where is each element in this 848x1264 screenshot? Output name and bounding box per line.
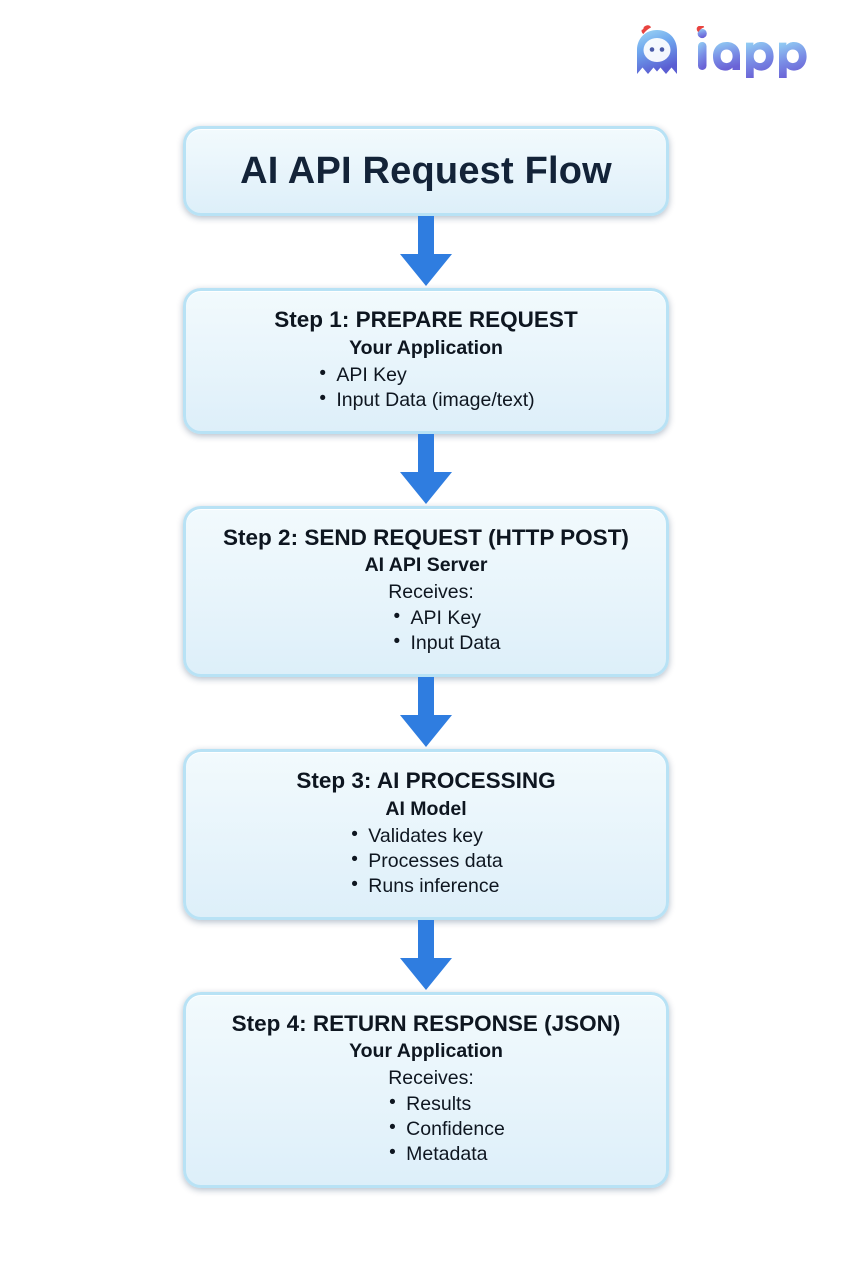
list-item: Input Data (image/text) — [317, 388, 534, 413]
arrow-title-to-step1 — [394, 216, 458, 288]
arrow-step2-to-step3 — [394, 677, 458, 749]
step-receives-label: Receives: — [210, 580, 652, 606]
step-receives-wrap: Receives: — [200, 1066, 652, 1092]
step-heading: Step 2: SEND REQUEST (HTTP POST) — [200, 525, 652, 552]
flow-column: AI API Request Flow Step 1: PREPARE REQU… — [183, 126, 669, 1188]
brand-logo — [629, 22, 820, 82]
list-item: API Key — [317, 363, 534, 388]
list-item: Confidence — [387, 1117, 505, 1142]
step-actor: Your Application — [200, 334, 652, 362]
step-card-1: Step 1: PREPARE REQUEST Your Application… — [183, 288, 669, 434]
step-receives-wrap: Receives: — [200, 580, 652, 606]
list-item: Results — [387, 1092, 505, 1117]
flow-title-card: AI API Request Flow — [183, 126, 669, 216]
step-bullets-wrap: API Key Input Data — [200, 606, 652, 656]
list-item: Processes data — [349, 849, 502, 874]
step-bullet-list: Results Confidence Metadata — [387, 1092, 505, 1167]
arrow-step1-to-step2 — [394, 434, 458, 506]
step-bullets-wrap: API Key Input Data (image/text) — [200, 363, 652, 413]
list-item: Validates key — [349, 824, 502, 849]
iapp-mascot-logo-icon — [629, 24, 685, 80]
step-bullet-list: API Key Input Data (image/text) — [317, 363, 534, 413]
step-heading: Step 4: RETURN RESPONSE (JSON) — [200, 1011, 652, 1038]
step-actor: AI Model — [200, 795, 652, 823]
step-actor: Your Application — [200, 1037, 652, 1065]
step-actor: AI API Server — [200, 551, 652, 579]
list-item: API Key — [392, 606, 501, 631]
step-card-4: Step 4: RETURN RESPONSE (JSON) Your Appl… — [183, 992, 669, 1188]
step-bullets-wrap: Validates key Processes data Runs infere… — [200, 824, 652, 899]
iapp-wordmark-icon — [695, 26, 820, 78]
arrow-step3-to-step4 — [394, 920, 458, 992]
step-bullets-wrap: Results Confidence Metadata — [200, 1092, 652, 1167]
list-item: Metadata — [387, 1142, 505, 1167]
step-card-2: Step 2: SEND REQUEST (HTTP POST) AI API … — [183, 506, 669, 677]
flowchart-page: AI API Request Flow Step 1: PREPARE REQU… — [0, 0, 848, 1264]
step-card-3: Step 3: AI PROCESSING AI Model Validates… — [183, 749, 669, 920]
step-heading: Step 1: PREPARE REQUEST — [200, 307, 652, 334]
step-bullet-list: Validates key Processes data Runs infere… — [349, 824, 502, 899]
list-item: Input Data — [392, 631, 501, 656]
step-receives-label: Receives: — [210, 1066, 652, 1092]
step-bullet-list: API Key Input Data — [392, 606, 501, 656]
page-title: AI API Request Flow — [240, 152, 612, 190]
step-heading: Step 3: AI PROCESSING — [200, 768, 652, 795]
list-item: Runs inference — [349, 874, 502, 899]
